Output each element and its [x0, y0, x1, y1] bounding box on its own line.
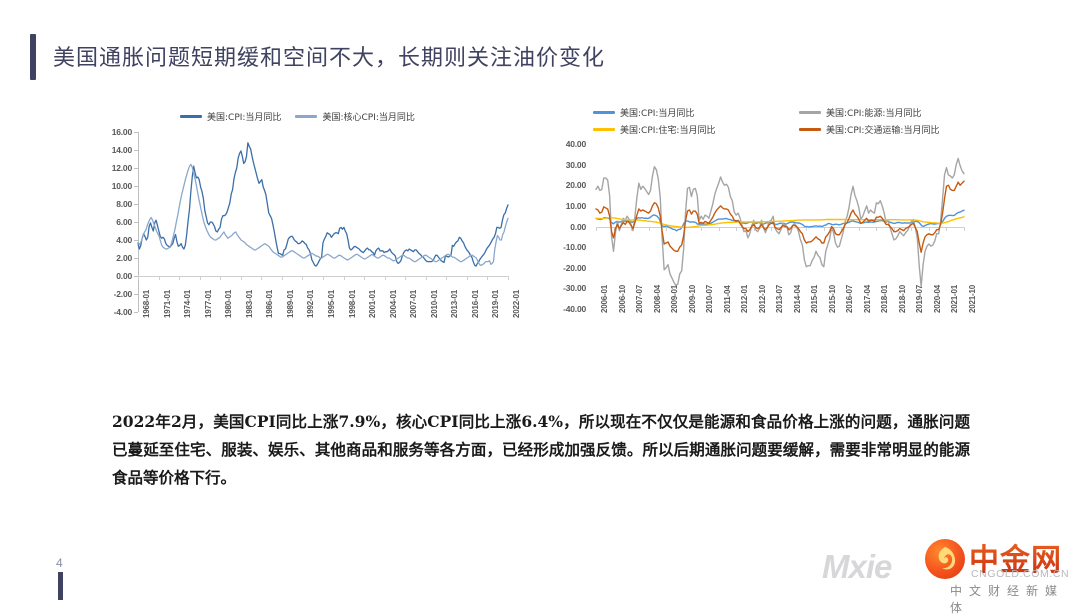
- y-axis-tick-label: 30.00: [566, 160, 586, 170]
- chart-cpi-components: 美国:CPI:当月同比美国:CPI:能源:当月同比美国:CPI:住宅:当月同比美…: [538, 106, 978, 366]
- legend-swatch-icon: [295, 115, 317, 118]
- chart-legend-right: 美国:CPI:当月同比美国:CPI:能源:当月同比美国:CPI:住宅:当月同比美…: [593, 106, 978, 136]
- data-series-line: [138, 143, 508, 266]
- y-axis-tick-label: 2.00: [116, 253, 132, 263]
- page-accent-bar: [58, 572, 63, 600]
- y-axis-tick-label: 8.00: [116, 199, 132, 209]
- legend-label: 美国:CPI:交通运输:当月同比: [826, 123, 939, 136]
- legend-item[interactable]: 美国:核心CPI:当月同比: [295, 110, 414, 123]
- y-axis-tick-label: 12.00: [112, 163, 132, 173]
- background-watermark: Mxie: [822, 548, 891, 586]
- x-axis-tick-label: 2021-10: [968, 285, 977, 313]
- y-axis-tick-label: -40.00: [563, 304, 586, 314]
- chart-cpi-history: 美国:CPI:当月同比美国:核心CPI:当月同比 16.0014.0012.00…: [90, 110, 520, 365]
- y-axis-tick-label: 0.00: [116, 271, 132, 281]
- flame-swirl-icon: [934, 546, 956, 572]
- y-axis-tick-label: 0.00: [570, 222, 586, 232]
- y-axis-tick-label: 10.00: [566, 201, 586, 211]
- legend-item[interactable]: 美国:CPI:当月同比: [180, 110, 281, 123]
- series-canvas: [596, 144, 964, 309]
- logo-mark-icon: [925, 539, 965, 579]
- page-title: 美国通胀问题短期缓和空间不大，长期则关注油价变化: [53, 40, 605, 72]
- plot-area-right: 40.0030.0020.0010.000.00-10.00-20.00-30.…: [596, 144, 964, 309]
- y-axis-tick-mark: [134, 312, 138, 313]
- data-series-line: [596, 217, 964, 228]
- y-axis-tick-label: 40.00: [566, 139, 586, 149]
- plot-area-left: 16.0014.0012.0010.008.006.004.002.000.00…: [138, 132, 508, 312]
- x-axis-tick-mark: [508, 276, 509, 280]
- cngold-logo: 中金网 CNGOLD.COM.CN 中文财经新媒体: [925, 537, 1075, 599]
- y-axis-tick-label: 14.00: [112, 145, 132, 155]
- page-number: 4: [56, 556, 63, 570]
- legend-label: 美国:CPI:住宅:当月同比: [620, 123, 715, 136]
- legend-item[interactable]: 美国:CPI:交通运输:当月同比: [799, 123, 999, 136]
- logo-url: CNGOLD.COM.CN: [971, 568, 1069, 580]
- legend-swatch-icon: [593, 111, 615, 114]
- y-axis-tick-label: -20.00: [563, 263, 586, 273]
- legend-label: 美国:CPI:当月同比: [620, 106, 694, 119]
- y-axis-tick-label: 20.00: [566, 180, 586, 190]
- legend-item[interactable]: 美国:CPI:住宅:当月同比: [593, 123, 773, 136]
- legend-item[interactable]: 美国:CPI:当月同比: [593, 106, 773, 119]
- legend-swatch-icon: [593, 128, 615, 131]
- logo-tagline: 中文财经新媒体: [950, 582, 1075, 616]
- chart-legend-left: 美国:CPI:当月同比美国:核心CPI:当月同比: [180, 110, 415, 123]
- y-axis-tick-label: -10.00: [563, 242, 586, 252]
- y-axis-tick-label: -30.00: [563, 283, 586, 293]
- legend-swatch-icon: [799, 128, 821, 131]
- y-axis-tick-label: -4.00: [114, 307, 132, 317]
- x-axis-tick-label: 2022-01: [512, 290, 521, 318]
- legend-item[interactable]: 美国:CPI:能源:当月同比: [799, 106, 999, 119]
- legend-label: 美国:核心CPI:当月同比: [322, 110, 414, 123]
- legend-label: 美国:CPI:当月同比: [207, 110, 281, 123]
- y-axis-tick-label: 6.00: [116, 217, 132, 227]
- y-axis-tick-label: 16.00: [112, 127, 132, 137]
- data-series-line: [138, 164, 508, 265]
- body-paragraph: 2022年2月，美国CPI同比上涨7.9%，核心CPI同比上涨6.4%，所以现在…: [112, 408, 970, 492]
- y-axis-tick-label: -2.00: [114, 289, 132, 299]
- slide-root: 美国通胀问题短期缓和空间不大，长期则关注油价变化 美国:CPI:当月同比美国:核…: [0, 0, 1080, 608]
- y-axis-tick-label: 10.00: [112, 181, 132, 191]
- x-axis-tick-mark: [964, 227, 965, 231]
- legend-swatch-icon: [180, 115, 202, 118]
- y-axis-tick-label: 4.00: [116, 235, 132, 245]
- series-canvas: [138, 132, 508, 312]
- title-accent-bar: [30, 34, 36, 80]
- legend-label: 美国:CPI:能源:当月同比: [826, 106, 921, 119]
- legend-swatch-icon: [799, 111, 821, 114]
